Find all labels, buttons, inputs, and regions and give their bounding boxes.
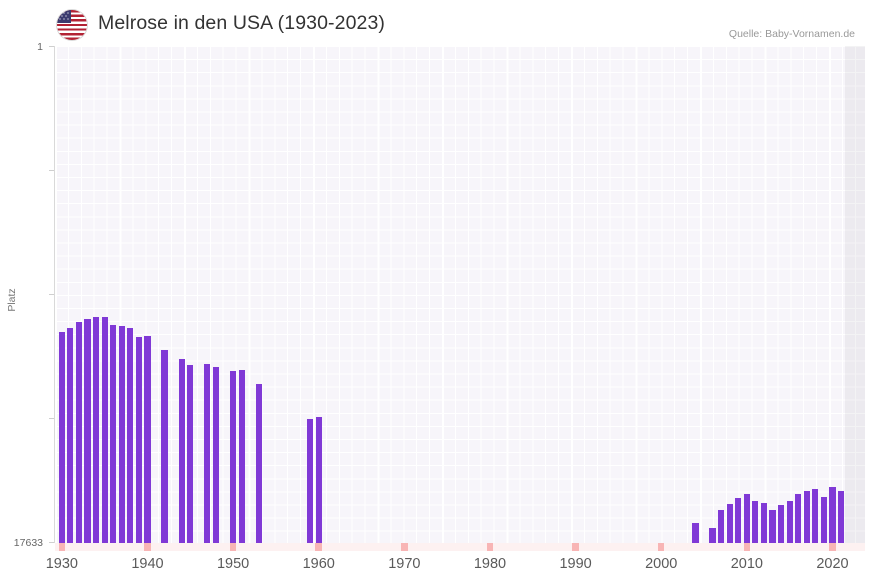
bar-1936[interactable] [110, 325, 116, 543]
x-axis-tick-1950 [230, 543, 237, 551]
x-axis-label-2020: 2020 [816, 556, 848, 572]
x-axis-label-1950: 1950 [217, 556, 249, 572]
page-title: Melrose in den USA (1930-2023) [98, 12, 385, 35]
bar-1953[interactable] [256, 384, 262, 543]
bar-1944[interactable] [179, 359, 185, 543]
bar-1930[interactable] [59, 332, 65, 543]
bar-1948[interactable] [213, 367, 219, 543]
x-axis-tick-1930 [59, 543, 66, 551]
bar-2013[interactable] [769, 510, 775, 543]
x-axis-label-2010: 2010 [731, 556, 763, 572]
bar-2012[interactable] [761, 503, 767, 543]
y-axis-tick-2 [49, 170, 54, 171]
bar-1938[interactable] [127, 328, 133, 543]
bar-1942[interactable] [161, 350, 167, 543]
y-axis-label-bottom: 17633 [14, 537, 43, 549]
y-axis-tick-3 [49, 294, 54, 295]
bar-2019[interactable] [821, 497, 827, 543]
usa-flag-icon [57, 10, 87, 40]
x-axis-tick-1990 [572, 543, 579, 551]
bar-1935[interactable] [102, 317, 108, 543]
bar-2009[interactable] [735, 498, 741, 543]
y-axis-tick-bottom [49, 542, 54, 543]
y-axis-label-top: 1 [37, 41, 43, 53]
x-axis-tick-2000 [658, 543, 665, 551]
bar-1932[interactable] [76, 322, 82, 543]
bar-1951[interactable] [239, 370, 245, 543]
bar-1931[interactable] [67, 328, 73, 543]
x-axis-tick-1960 [315, 543, 322, 551]
bar-1939[interactable] [136, 337, 142, 543]
plot-area [55, 46, 865, 543]
bar-2007[interactable] [718, 510, 724, 543]
bar-1945[interactable] [187, 365, 193, 543]
bar-1950[interactable] [230, 371, 236, 543]
x-axis-tick-2010 [744, 543, 751, 551]
bar-1937[interactable] [119, 326, 125, 543]
bar-2010[interactable] [744, 494, 750, 543]
bar-2016[interactable] [795, 494, 801, 543]
future-range-shading [845, 46, 865, 543]
bar-2015[interactable] [787, 501, 793, 543]
bar-2006[interactable] [709, 528, 715, 543]
x-axis-label-1970: 1970 [388, 556, 420, 572]
y-axis-tick-4 [49, 418, 54, 419]
x-axis-label-1930: 1930 [46, 556, 78, 572]
x-axis-label-1990: 1990 [559, 556, 591, 572]
x-axis-tick-2020 [829, 543, 836, 551]
x-axis-tick-1970 [401, 543, 408, 551]
bar-2020[interactable] [829, 487, 835, 543]
y-axis-title: Platz [6, 288, 18, 311]
x-axis-label-1980: 1980 [474, 556, 506, 572]
bar-1940[interactable] [144, 336, 150, 543]
bar-1960[interactable] [316, 417, 322, 543]
bar-2004[interactable] [692, 523, 698, 543]
bar-2017[interactable] [804, 491, 810, 543]
bar-1959[interactable] [307, 419, 313, 543]
x-axis-tick-1980 [487, 543, 494, 551]
bar-2018[interactable] [812, 489, 818, 543]
x-axis-label-1960: 1960 [303, 556, 335, 572]
bar-2021[interactable] [838, 491, 844, 543]
x-axis-label-2000: 2000 [645, 556, 677, 572]
bar-1947[interactable] [204, 364, 210, 543]
chart-header: Melrose in den USA (1930-2023) Quelle: B… [0, 0, 873, 46]
chart-page: Melrose in den USA (1930-2023) Quelle: B… [0, 0, 873, 587]
bar-2008[interactable] [727, 504, 733, 543]
bar-2011[interactable] [752, 501, 758, 543]
x-axis-label-1940: 1940 [131, 556, 163, 572]
x-axis-tick-1940 [144, 543, 151, 551]
bar-2014[interactable] [778, 505, 784, 543]
y-axis-tick-top [49, 46, 54, 47]
bar-1933[interactable] [84, 319, 90, 543]
grid-major [55, 46, 865, 543]
flag-canton [57, 10, 71, 23]
bar-1934[interactable] [93, 317, 99, 543]
source-attribution: Quelle: Baby-Vornamen.de [729, 28, 855, 40]
